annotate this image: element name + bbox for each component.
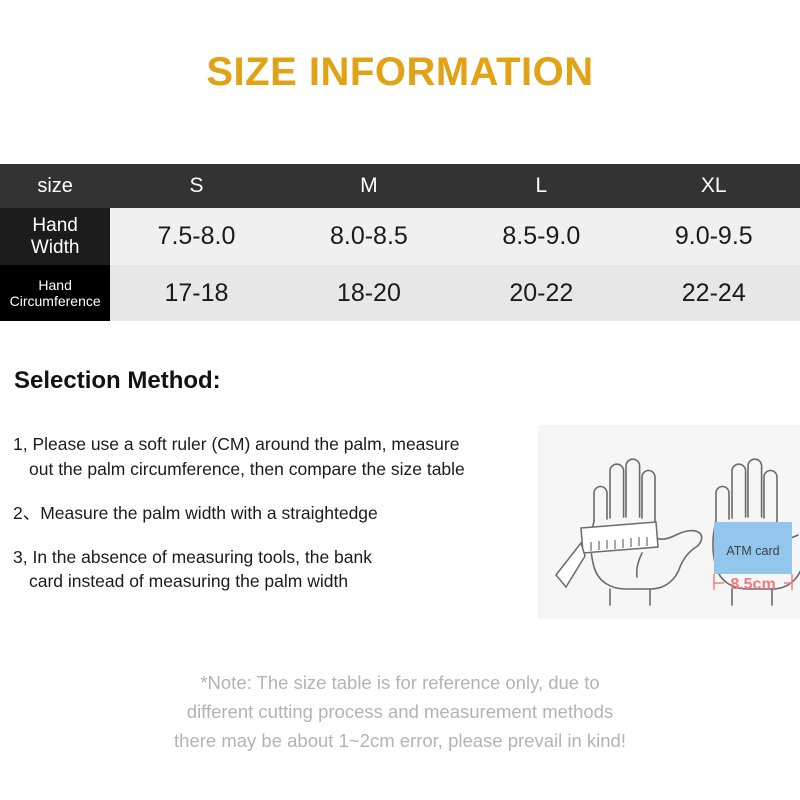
table-header-size: size [0, 164, 110, 208]
cell-hand-circumference-l: 20-22 [455, 265, 627, 321]
cell-hand-width-s: 7.5-8.0 [110, 208, 282, 265]
note-line-1: *Note: The size table is for reference o… [0, 668, 800, 697]
table-header-s: S [110, 164, 282, 208]
size-table: size S M L XL Hand Width 7.5-8.0 8.0-8.5… [0, 164, 800, 321]
dimension-label: 8.5cm [730, 576, 775, 593]
step-3-line-1: 3, In the absence of measuring tools, th… [13, 547, 372, 567]
row-label-line2: Circumference [0, 293, 110, 309]
selection-method-steps: 1, Please use a soft ruler (CM) around t… [13, 432, 533, 613]
disclaimer-note: *Note: The size table is for reference o… [0, 668, 800, 756]
cell-hand-circumference-s: 17-18 [110, 265, 282, 321]
cell-hand-width-l: 8.5-9.0 [455, 208, 627, 265]
note-line-2: different cutting process and measuremen… [0, 697, 800, 726]
row-label-line1: Hand [0, 215, 110, 237]
step-2-line-1: 2、Measure the palm width with a straight… [13, 503, 378, 523]
step-item-2: 2、Measure the palm width with a straight… [13, 501, 533, 526]
table-header-row: size S M L XL [0, 164, 800, 208]
selection-method-heading: Selection Method: [14, 367, 221, 395]
cell-hand-width-xl: 9.0-9.5 [628, 208, 800, 265]
table-row-hand-circumference: Hand Circumference 17-18 18-20 20-22 22-… [0, 265, 800, 321]
table-row-hand-width: Hand Width 7.5-8.0 8.0-8.5 8.5-9.0 9.0-9… [0, 208, 800, 265]
step-1-line-1: 1, Please use a soft ruler (CM) around t… [13, 434, 459, 454]
atm-card-label: ATM card [726, 544, 779, 558]
table-header-m: M [283, 164, 455, 208]
page-title: SIZE INFORMATION [0, 50, 800, 95]
step-item-3: 3, In the absence of measuring tools, th… [13, 545, 533, 595]
step-item-1: 1, Please use a soft ruler (CM) around t… [13, 432, 533, 482]
cell-hand-circumference-m: 18-20 [283, 265, 455, 321]
row-label-line2: Width [0, 237, 110, 259]
cell-hand-width-m: 8.0-8.5 [283, 208, 455, 265]
row-label-hand-circumference: Hand Circumference [0, 265, 110, 321]
hands-illustration-svg: ATM card 8.5cm [538, 425, 800, 619]
measurement-illustration-panel: ATM card 8.5cm [538, 425, 800, 619]
step-1-line-2: out the palm circumference, then compare… [13, 457, 533, 482]
note-line-3: there may be about 1~2cm error, please p… [0, 726, 800, 755]
row-label-hand-width: Hand Width [0, 208, 110, 265]
row-label-line1: Hand [0, 277, 110, 293]
step-3-line-2: card instead of measuring the palm width [13, 569, 533, 594]
cell-hand-circumference-xl: 22-24 [628, 265, 800, 321]
tape-measure-icon [556, 522, 658, 587]
table-header-l: L [455, 164, 627, 208]
table-header-xl: XL [628, 164, 800, 208]
